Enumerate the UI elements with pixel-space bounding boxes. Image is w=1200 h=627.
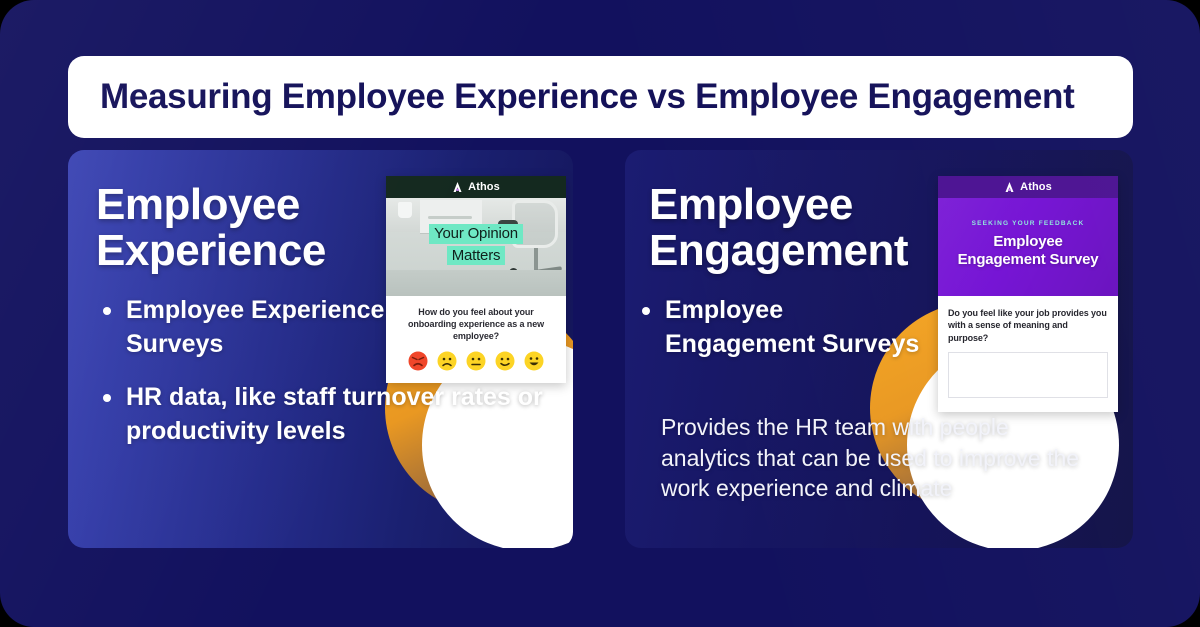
page-title: Measuring Employee Experience vs Employe… — [100, 77, 1074, 117]
rating-face-neutral-icon[interactable] — [466, 351, 486, 371]
bullet-list-experience: Employee Experience Surveys HR data, lik… — [96, 294, 406, 468]
brand-name: Athos — [1020, 181, 1052, 193]
survey-brand-bar: Athos — [938, 176, 1118, 198]
slide-canvas: Measuring Employee Experience vs Employe… — [0, 0, 1200, 627]
athos-logo-icon — [452, 182, 463, 192]
survey-body: How do you feel about your onboarding ex… — [386, 296, 566, 383]
survey-question-text: Do you feel like your job provides you w… — [948, 307, 1108, 344]
survey-body: Do you feel like your job provides you w… — [938, 296, 1118, 412]
title-banner: Measuring Employee Experience vs Employe… — [68, 56, 1133, 138]
brand-name: Athos — [468, 181, 500, 193]
survey-question-text: How do you feel about your onboarding ex… — [394, 306, 558, 342]
list-item: Employee Engagement Surveys — [635, 294, 935, 361]
rating-face-angry-icon[interactable] — [408, 351, 428, 371]
survey-title-text: Employee Engagement Survey — [938, 233, 1118, 270]
engagement-note-text: Provides the HR team with people analyti… — [661, 412, 1091, 504]
survey-mock-experience[interactable]: Athos Your Opinion Matters — [386, 176, 566, 383]
survey-brand-bar: Athos — [386, 176, 566, 198]
rating-face-big-smile-icon[interactable] — [524, 351, 544, 371]
survey-answer-input[interactable] — [948, 352, 1108, 398]
hero-caption-line-2: Matters — [447, 246, 506, 266]
office-cup-shape — [398, 202, 412, 218]
survey-mock-engagement[interactable]: Athos SEEKING YOUR FEEDBACK Employee Eng… — [938, 176, 1118, 412]
rating-face-slight-smile-icon[interactable] — [495, 351, 515, 371]
rating-face-row[interactable] — [394, 351, 558, 371]
survey-eyebrow-text: SEEKING YOUR FEEDBACK — [938, 220, 1118, 227]
card-employee-engagement: Employee Engagement Employee Engagement … — [625, 150, 1133, 548]
card-heading-experience: Employee Experience — [96, 182, 326, 274]
athos-logo-icon — [1004, 182, 1015, 192]
bullet-list-engagement: Employee Engagement Surveys — [635, 294, 935, 381]
list-item: HR data, like staff turnover rates or pr… — [96, 381, 546, 448]
card-employee-experience: Employee Experience Employee Experience … — [68, 150, 573, 548]
card-heading-engagement: Employee Engagement — [649, 182, 908, 274]
rating-face-sad-icon[interactable] — [437, 351, 457, 371]
survey-hero-photo: Your Opinion Matters — [386, 198, 566, 296]
survey-hero-caption: Your Opinion Matters — [386, 224, 566, 265]
survey-purple-hero: SEEKING YOUR FEEDBACK Employee Engagemen… — [938, 198, 1118, 296]
hero-caption-line-1: Your Opinion — [429, 224, 523, 244]
list-item: Employee Experience Surveys — [96, 294, 406, 361]
